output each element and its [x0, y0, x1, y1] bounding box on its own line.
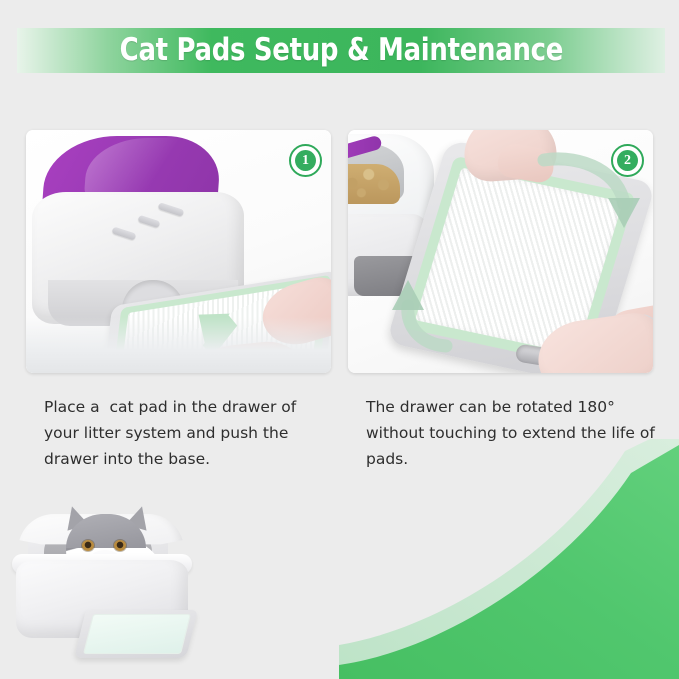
page-title: Cat Pads Setup & Maintenance — [119, 35, 562, 66]
swoosh-svg — [339, 439, 679, 679]
step-2-badge: 2 — [611, 144, 644, 177]
infographic-page: Cat Pads Setup & Maintenance 1 — [0, 0, 679, 679]
step-2-number: 2 — [617, 150, 638, 171]
step-1-photo — [26, 130, 331, 373]
floor-shadow — [26, 317, 331, 373]
step-2-photo-panel — [348, 130, 653, 373]
hero-cat-photo — [4, 498, 226, 674]
step-2-photo — [348, 130, 653, 373]
cat-eye-left — [82, 540, 94, 551]
header-banner: Cat Pads Setup & Maintenance — [17, 28, 665, 73]
extended-drawer-pad — [83, 614, 191, 654]
cat-eye-right — [114, 540, 126, 551]
step-1-badge: 1 — [289, 144, 322, 177]
step-1-photo-panel — [26, 130, 331, 373]
step-1-caption: Place a cat pad in the drawer of your li… — [44, 394, 334, 472]
cat-litter-granules — [348, 164, 400, 204]
step-1-number: 1 — [295, 150, 316, 171]
decorative-green-swoosh — [339, 439, 679, 679]
